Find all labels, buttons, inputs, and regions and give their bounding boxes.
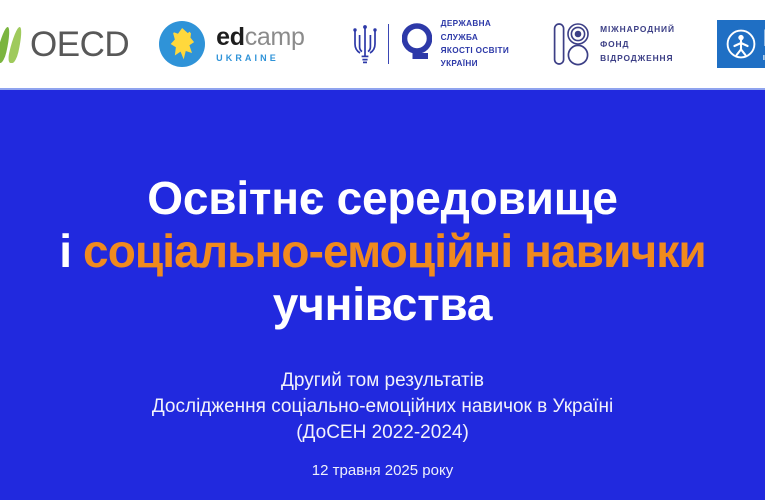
- logo-state-service-education-quality: ДЕРЖАВНА СЛУЖБА ЯКОСТІ ОСВІТИ УКРАЇНИ: [351, 17, 509, 70]
- irf-line-3: ВІДРОДЖЕННЯ: [600, 51, 675, 66]
- title-slide: OECD edcamp UKRAINE: [0, 0, 765, 500]
- irf-text-group: МІЖНАРОДНИЙ ФОНД ВІДРОДЖЕННЯ: [600, 22, 675, 67]
- slide-body: Освітнє середовище і соціально-емоційні …: [0, 90, 765, 500]
- subtitle-line-3: (ДоСЕН 2022-2024): [0, 420, 765, 446]
- edcamp-wordmark: edcamp: [216, 25, 305, 50]
- title-line-3: учнівства: [0, 278, 765, 331]
- irf-line-1: МІЖНАРОДНИЙ: [600, 22, 675, 37]
- slide-date: 12 травня 2025 року: [0, 462, 765, 479]
- title-line-2: і соціально-емоційні навички: [0, 225, 765, 278]
- sqe-quality-mark-icon: [402, 23, 432, 65]
- slide-subtitle: Другий том результатів Дослідження соціа…: [0, 368, 765, 446]
- edcamp-text-group: edcamp UKRAINE: [216, 25, 305, 63]
- sqe-line-4: УКРАЇНИ: [441, 57, 509, 70]
- title-line-2-prefix: і: [59, 225, 83, 277]
- title-line-1: Освітнє середовище: [0, 172, 765, 225]
- plan-child-badge-icon: [726, 29, 756, 59]
- sqe-line-1: ДЕРЖАВНА: [441, 17, 509, 30]
- oecd-wordmark: OECD: [30, 27, 129, 62]
- logo-plan-international: PL INTER: [717, 20, 765, 68]
- ukraine-trident-icon: [351, 23, 379, 65]
- logo-edcamp: edcamp UKRAINE: [159, 21, 305, 67]
- oecd-swoosh-icon: [0, 25, 28, 63]
- logo-oecd: OECD: [0, 25, 129, 63]
- sqe-text-group: ДЕРЖАВНА СЛУЖБА ЯКОСТІ ОСВІТИ УКРАЇНИ: [441, 17, 509, 70]
- edcamp-word-light: camp: [245, 23, 305, 51]
- subtitle-line-1: Другий том результатів: [0, 368, 765, 394]
- partner-logo-band: OECD edcamp UKRAINE: [0, 0, 765, 88]
- edcamp-subtitle: UKRAINE: [216, 54, 305, 63]
- irf-line-2: ФОНД: [600, 37, 675, 52]
- irf-mark-icon: [553, 22, 589, 66]
- edcamp-word-bold: ed: [216, 23, 245, 51]
- title-line-2-accent: соціально-емоційні навички: [83, 225, 706, 277]
- edcamp-globe-icon: [159, 21, 205, 67]
- subtitle-line-2: Дослідження соціально-емоційних навичок …: [0, 394, 765, 420]
- slide-title: Освітнє середовище і соціально-емоційні …: [0, 172, 765, 331]
- logo-international-renaissance-foundation: МІЖНАРОДНИЙ ФОНД ВІДРОДЖЕННЯ: [553, 22, 675, 67]
- edcamp-flame-icon: [169, 28, 195, 60]
- sqe-line-3: ЯКОСТІ ОСВІТИ: [441, 44, 509, 57]
- sqe-line-2: СЛУЖБА: [441, 31, 509, 44]
- logo-divider: [388, 24, 389, 64]
